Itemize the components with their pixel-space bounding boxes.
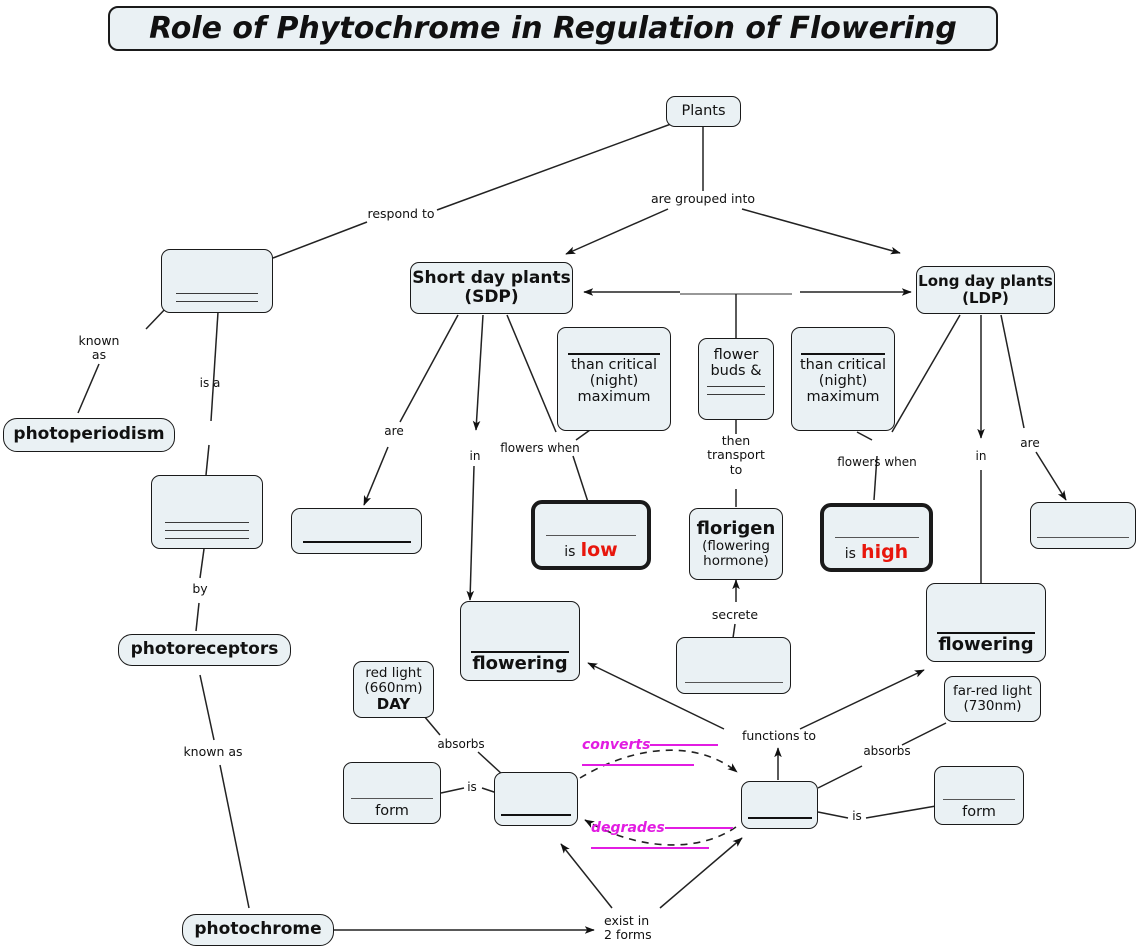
edge-label-flowers-when-right: flowers when [829,456,925,470]
node-blank-phytochrome-pfr[interactable] [741,781,818,829]
node-photochrome[interactable]: photochrome [182,914,334,946]
blank-line [546,535,636,536]
node-florigen[interactable]: florigen (flowering hormone) [689,508,783,580]
blank-line [568,353,660,355]
blank-line [801,353,885,355]
blank-line [501,814,571,816]
critical-left-line3: maximum [577,389,650,405]
node-far-red-light[interactable]: far-red light (730nm) [944,676,1041,722]
blank-line [707,394,765,395]
edge-label-are-grouped-into: are grouped into [637,192,769,206]
edge-label-is-right: is [845,810,869,824]
edge-label-respond-to: respond to [365,207,437,221]
edge-label-exist-in-2-forms: exist in 2 forms [604,914,670,943]
blank-line [943,799,1015,800]
edge-label-are-right: are [1010,437,1050,451]
node-blank-ldp-are[interactable] [1030,502,1136,549]
red-light-label: red light (660nm) [364,666,422,696]
concept-map-canvas: Role of Phytochrome in Regulation of Flo… [0,0,1139,949]
node-photoreceptors[interactable]: photoreceptors [118,634,291,666]
blank-line [165,538,249,539]
is-high-prefix: is [845,546,856,562]
map-title-text: Role of Phytochrome in Regulation of Flo… [149,12,957,46]
edge-label-are-left: are [374,425,414,439]
is-high-value: high [861,541,908,563]
critical-left-line2: (night) [590,373,639,389]
node-blank-phytochrome-pr[interactable] [494,772,578,826]
flower-buds-label: flower buds & [710,347,761,379]
critical-right-line2: (night) [819,373,868,389]
blank-line [303,541,411,543]
edge-label-degrades: degrades [591,820,733,849]
edge-label-secrete: secrete [703,608,767,622]
node-flowering-left[interactable]: flowering [460,601,580,681]
critical-right-line3: maximum [806,389,879,405]
node-is-low[interactable]: is low [531,500,651,570]
blank-line [351,798,433,799]
blank-line [176,293,258,294]
node-photoreceptors-label: photoreceptors [131,640,279,659]
edge-label-known-as-bottom: known as [170,745,256,759]
blank-line [835,537,919,538]
node-is-high[interactable]: is high [820,503,933,572]
blank-line [165,522,249,523]
edge-label-in-right: in [964,450,998,464]
node-photochrome-label: photochrome [194,920,321,939]
blank-line [748,817,812,819]
node-plants[interactable]: Plants [666,96,741,127]
node-blank-sdp-are[interactable] [291,508,422,554]
form-right-label: form [962,804,996,820]
edge-label-then-transport-to: then transport to [696,434,776,477]
node-flower-buds[interactable]: flower buds & [698,338,774,420]
far-red-light-label: far-red light (730nm) [953,684,1032,714]
edge-label-known-as-left: known as [62,334,136,363]
is-low-prefix: is [564,544,575,560]
degrades-text: degrades [591,820,665,836]
node-ldp-label: Long day plants (LDP) [918,273,1053,307]
blank-line [665,827,733,829]
florigen-label: florigen [697,519,776,539]
node-short-day-plants[interactable]: Short day plants (SDP) [410,262,573,314]
node-critical-night-left[interactable]: than critical (night) maximum [557,327,671,431]
node-form-left[interactable]: form [343,762,441,824]
node-red-light[interactable]: red light (660nm) DAY [353,661,434,718]
edge-label-by: by [181,582,219,596]
node-photoperiodism[interactable]: photoperiodism [3,418,175,452]
blank-line [1037,537,1129,538]
node-flowering-right[interactable]: flowering [926,583,1046,662]
converts-text: converts [582,737,650,753]
edge-label-is-left: is [460,781,484,795]
edge-label-is-a: is a [189,377,231,391]
blank-line [650,744,718,746]
edge-label-in-left: in [458,450,492,464]
node-form-right[interactable]: form [934,766,1024,825]
blank-line [591,847,709,849]
node-blank-photoperiodism[interactable] [161,249,273,313]
edge-label-flowers-when-left: flowers when [492,442,588,456]
node-long-day-plants[interactable]: Long day plants (LDP) [916,266,1055,314]
node-plants-label: Plants [681,103,725,119]
node-critical-night-right[interactable]: than critical (night) maximum [791,327,895,431]
edge-label-converts: converts [582,737,718,766]
critical-right-line1: than critical [800,357,886,373]
node-blank-secrete-source[interactable] [676,637,791,694]
flowering-left-label: flowering [472,654,567,674]
red-light-day: DAY [377,696,411,713]
edge-label-absorbs-left: absorbs [432,738,490,752]
edge-label-functions-to: functions to [731,729,827,743]
is-low-row: is low [564,540,617,561]
map-title: Role of Phytochrome in Regulation of Flo… [108,6,998,51]
florigen-sublabel: (flowering hormone) [702,539,770,569]
node-sdp-label: Short day plants (SDP) [412,269,570,307]
is-low-value: low [581,539,618,561]
critical-left-line1: than critical [571,357,657,373]
node-photoperiodism-label: photoperiodism [13,425,164,444]
blank-line [165,530,249,531]
blank-line [582,764,694,766]
form-left-label: form [375,803,409,819]
blank-line [707,386,765,387]
edge-label-absorbs-right: absorbs [858,745,916,759]
blank-line [685,682,783,683]
is-high-row: is high [845,542,908,563]
flowering-right-label: flowering [938,635,1033,655]
node-blank-three-lines[interactable] [151,475,263,549]
blank-line [176,301,258,302]
